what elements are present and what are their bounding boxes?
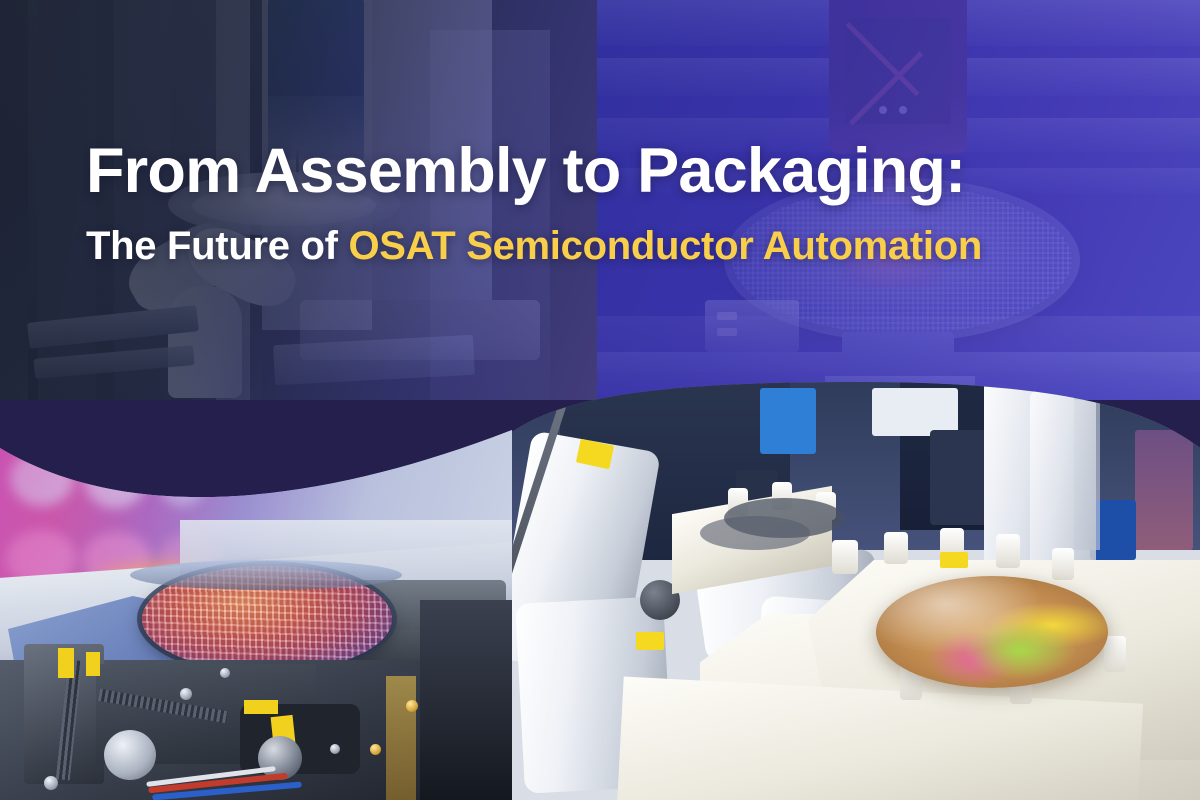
- gold-wafer: [876, 576, 1108, 688]
- subtitle-prefix: The Future of: [86, 224, 348, 268]
- subtitle-accent: OSAT Semiconductor Automation: [348, 224, 982, 268]
- banner-text-block: From Assembly to Packaging: The Future o…: [86, 140, 1096, 267]
- page-title: From Assembly to Packaging:: [86, 140, 1096, 203]
- banner-root: From Assembly to Packaging: The Future o…: [0, 0, 1200, 800]
- page-subtitle: The Future of OSAT Semiconductor Automat…: [86, 225, 1096, 267]
